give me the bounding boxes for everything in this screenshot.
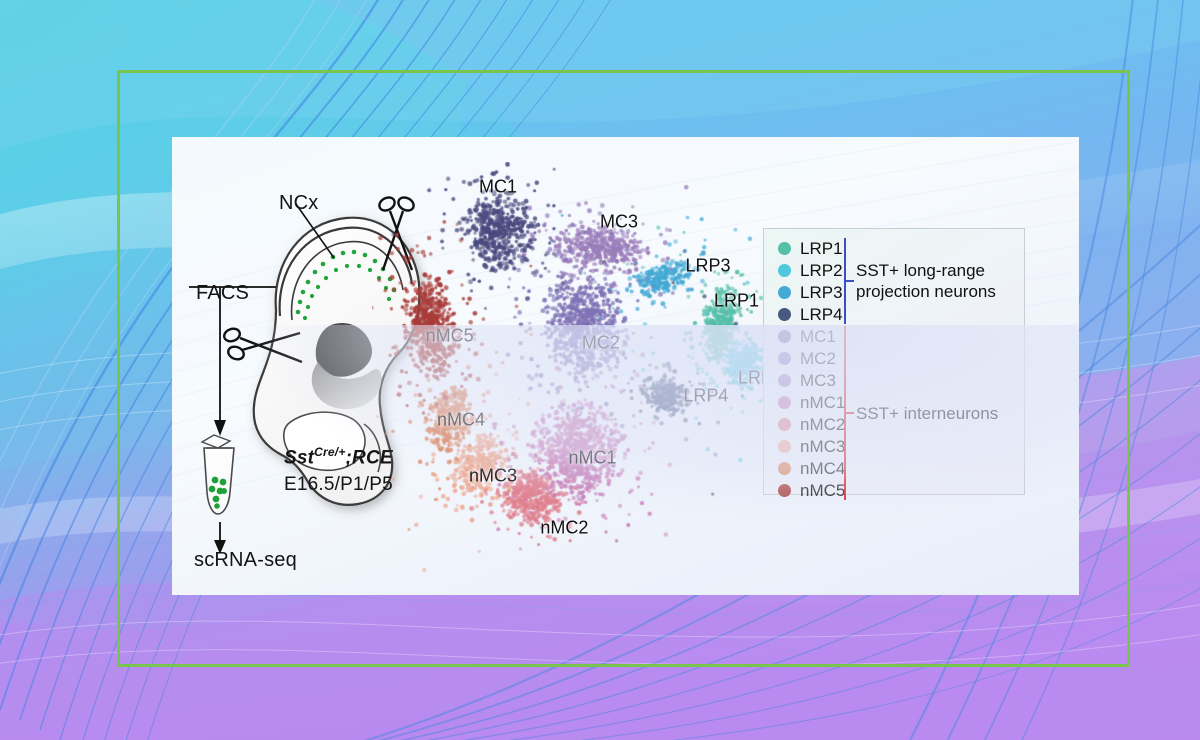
legend-color-dot: [778, 418, 791, 431]
cluster-legend: LRP1LRP2LRP3LRP4MC1MC2MC3nMC1nMC2nMC3nMC…: [763, 228, 1025, 495]
genotype-gene: Sst: [284, 447, 314, 468]
legend-item-label: nMC5: [800, 482, 845, 499]
umap-label-nmc1: nMC1: [568, 448, 616, 469]
bracket-tick: [844, 412, 854, 414]
legend-item-lrp2[interactable]: LRP2: [778, 259, 845, 281]
legend-color-dot: [778, 286, 791, 299]
bracket-label-long-range: SST+ long-range projection neurons: [856, 260, 996, 302]
umap-label-nmc2: nMC2: [540, 518, 588, 539]
figure-panel: NCx FACS SstCre/+;RCE E16.5/P1/P5 scRNA-…: [172, 137, 1079, 595]
genotype-superscript: Cre/+: [314, 445, 345, 459]
bracket-label-interneurons: SST+ interneurons: [856, 403, 998, 424]
legend-item-label: nMC1: [800, 394, 845, 411]
umap-label-lrp1: LRP1: [714, 290, 759, 311]
legend-item-mc3[interactable]: MC3: [778, 369, 845, 391]
legend-item-nmc2[interactable]: nMC2: [778, 413, 845, 435]
legend-item-label: LRP3: [800, 284, 843, 301]
legend-item-lrp1[interactable]: LRP1: [778, 237, 845, 259]
umap-label-nmc3: nMC3: [469, 466, 517, 487]
legend-color-dot: [778, 440, 791, 453]
umap-label-mc2: MC2: [582, 332, 620, 353]
legend-color-dot: [778, 462, 791, 475]
legend-color-dot: [778, 484, 791, 497]
legend-color-dot: [778, 264, 791, 277]
legend-item-label: LRP4: [800, 306, 843, 323]
legend-item-label: LRP1: [800, 240, 843, 257]
umap-label-lrp3: LRP3: [685, 256, 730, 277]
umap-label-nmc5: nMC5: [426, 326, 474, 347]
legend-color-dot: [778, 308, 791, 321]
legend-item-label: MC1: [800, 328, 836, 345]
legend-item-nmc1[interactable]: nMC1: [778, 391, 845, 413]
legend-color-dot: [778, 242, 791, 255]
eppendorf-tube-icon: [202, 435, 234, 514]
legend-color-dot: [778, 330, 791, 343]
umap-label-nmc4: nMC4: [437, 410, 485, 431]
legend-item-nmc3[interactable]: nMC3: [778, 435, 845, 457]
ncx-label: NCx: [279, 192, 319, 215]
down-arrow-icon: [214, 420, 226, 436]
figure-stage: NCx FACS SstCre/+;RCE E16.5/P1/P5 scRNA-…: [0, 0, 1200, 740]
umap-scatter-plot: MC1MC3MC2LRP3LRP1LRP2LRP4nMC1nMC2nMC3nMC…: [372, 162, 792, 582]
legend-item-nmc5[interactable]: nMC5: [778, 479, 845, 501]
legend-item-label: nMC4: [800, 460, 845, 477]
legend-item-mc2[interactable]: MC2: [778, 347, 845, 369]
umap-label-lrp4: LRP4: [683, 386, 728, 407]
legend-item-nmc4[interactable]: nMC4: [778, 457, 845, 479]
legend-item-label: nMC2: [800, 416, 845, 433]
legend-item-label: LRP2: [800, 262, 843, 279]
legend-color-dot: [778, 374, 791, 387]
legend-item-label: MC2: [800, 350, 836, 367]
legend-item-label: nMC3: [800, 438, 845, 455]
legend-item-label: MC3: [800, 372, 836, 389]
umap-label-mc3: MC3: [600, 211, 638, 232]
legend-item-lrp4[interactable]: LRP4: [778, 303, 845, 325]
legend-color-dot: [778, 396, 791, 409]
legend-item-lrp3[interactable]: LRP3: [778, 281, 845, 303]
legend-item-list: LRP1LRP2LRP3LRP4MC1MC2MC3nMC1nMC2nMC3nMC…: [778, 237, 845, 501]
umap-label-mc1: MC1: [479, 177, 517, 198]
facs-label: FACS: [196, 282, 249, 305]
scrnaseq-label: scRNA-seq: [194, 549, 297, 572]
legend-color-dot: [778, 352, 791, 365]
bracket-tick: [844, 280, 854, 282]
legend-item-mc1[interactable]: MC1: [778, 325, 845, 347]
